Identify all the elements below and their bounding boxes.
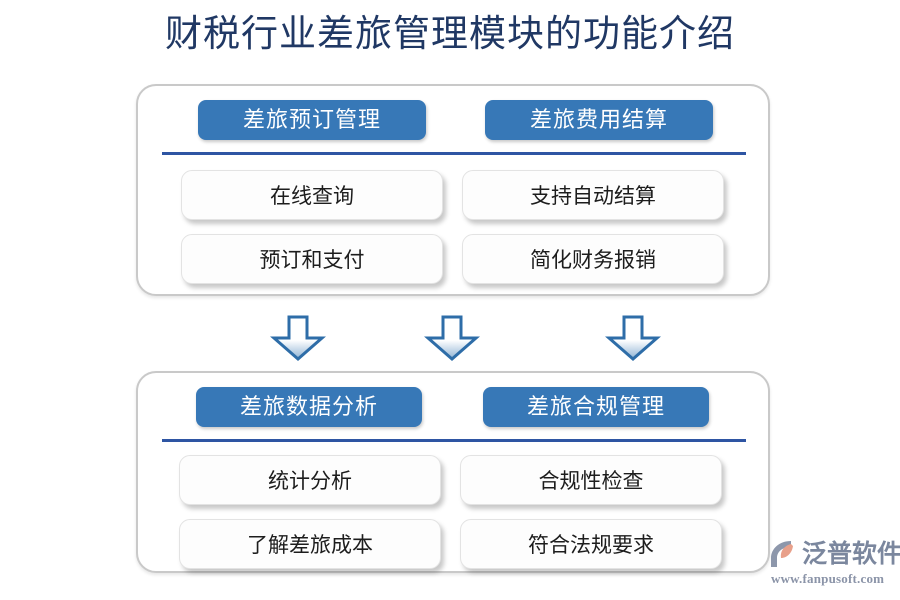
- panel-inner: 差旅预订管理 差旅费用结算 在线查询 预订和支付 支持自动结算 简化财务报销: [138, 86, 768, 294]
- card-regulatory-requirements[interactable]: 符合法规要求: [460, 519, 722, 569]
- panel-cards: 在线查询 预订和支付 支持自动结算 简化财务报销: [138, 164, 768, 286]
- header-pill-travel-data-analysis[interactable]: 差旅数据分析: [196, 387, 422, 427]
- down-arrow-icon-2: [423, 314, 481, 362]
- panel-header-row: 差旅数据分析 差旅合规管理: [138, 387, 768, 427]
- logo-url-text: www.fanpusoft.com: [771, 571, 895, 587]
- fanpu-logo-icon: [769, 539, 799, 569]
- card-travel-cost-insight[interactable]: 了解差旅成本: [179, 519, 441, 569]
- panel-divider: [162, 152, 746, 155]
- down-arrow-icon-3: [604, 314, 662, 362]
- card-simplify-reimbursement[interactable]: 简化财务报销: [462, 234, 724, 284]
- panel-inner: 差旅数据分析 差旅合规管理 统计分析 了解差旅成本 合规性检查 符合法规要求: [138, 373, 768, 571]
- header-pill-travel-compliance[interactable]: 差旅合规管理: [483, 387, 709, 427]
- panel-booking-settlement: 差旅预订管理 差旅费用结算 在线查询 预订和支付 支持自动结算 简化财务报销: [136, 84, 770, 296]
- logo-cn-text: 泛普软件: [802, 539, 900, 569]
- page-title: 财税行业差旅管理模块的功能介绍: [0, 12, 900, 58]
- card-statistical-analysis[interactable]: 统计分析: [179, 455, 441, 505]
- card-compliance-check[interactable]: 合规性检查: [460, 455, 722, 505]
- card-auto-settlement[interactable]: 支持自动结算: [462, 170, 724, 220]
- card-booking-payment[interactable]: 预订和支付: [181, 234, 443, 284]
- header-pill-travel-expense[interactable]: 差旅费用结算: [485, 100, 713, 140]
- logo-top-row: 泛普软件: [769, 538, 895, 570]
- down-arrow-icon-1: [269, 314, 327, 362]
- panel-divider: [162, 439, 746, 442]
- fanpu-logo[interactable]: 泛普软件 www.fanpusoft.com: [769, 538, 895, 588]
- header-pill-travel-booking[interactable]: 差旅预订管理: [198, 100, 426, 140]
- panel-header-row: 差旅预订管理 差旅费用结算: [138, 100, 768, 140]
- panel-cards: 统计分析 了解差旅成本 合规性检查 符合法规要求: [138, 451, 768, 563]
- panel-analysis-compliance: 差旅数据分析 差旅合规管理 统计分析 了解差旅成本 合规性检查 符合法规要求: [136, 371, 770, 573]
- card-online-query[interactable]: 在线查询: [181, 170, 443, 220]
